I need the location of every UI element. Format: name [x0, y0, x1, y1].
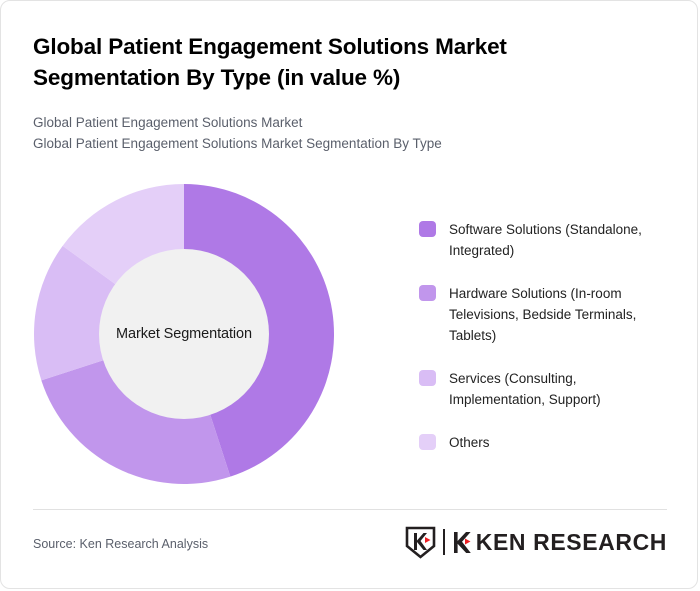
legend-item-label: Software Solutions (Standalone, Integrat…	[449, 219, 671, 261]
donut-hole	[99, 249, 269, 419]
legend-swatch-icon	[419, 434, 436, 450]
source-note: Source: Ken Research Analysis	[33, 537, 208, 551]
legend-item[interactable]: Services (Consulting, Implementation, Su…	[419, 368, 671, 410]
donut-chart: Market Segmentation	[33, 183, 335, 485]
legend-item-label: Others	[449, 432, 490, 453]
logo-wordmark: KEN RESEARCH	[476, 531, 667, 554]
footer-divider	[33, 509, 667, 510]
ken-research-shield-icon	[405, 526, 436, 559]
legend-item[interactable]: Hardware Solutions (In-room Televisions,…	[419, 283, 671, 346]
subtitle-line-2: Global Patient Engagement Solutions Mark…	[33, 133, 633, 154]
legend-item-label: Services (Consulting, Implementation, Su…	[449, 368, 671, 410]
subtitle-line-1: Global Patient Engagement Solutions Mark…	[33, 112, 633, 133]
legend-item[interactable]: Software Solutions (Standalone, Integrat…	[419, 219, 671, 261]
legend-swatch-icon	[419, 285, 436, 301]
chart-subtitles: Global Patient Engagement Solutions Mark…	[33, 112, 633, 154]
ken-research-logo: KEN RESEARCH	[405, 525, 667, 559]
donut-chart-svg	[33, 183, 335, 485]
legend-item[interactable]: Others	[419, 432, 671, 453]
chart-legend: Software Solutions (Standalone, Integrat…	[419, 219, 671, 453]
legend-swatch-icon	[419, 370, 436, 386]
logo-k-glyph-icon	[452, 530, 474, 555]
logo-divider-bar	[443, 529, 445, 555]
legend-item-label: Hardware Solutions (In-room Televisions,…	[449, 283, 671, 346]
chart-card: Global Patient Engagement Solutions Mark…	[0, 0, 698, 589]
legend-swatch-icon	[419, 221, 436, 237]
page-title: Global Patient Engagement Solutions Mark…	[33, 31, 633, 93]
